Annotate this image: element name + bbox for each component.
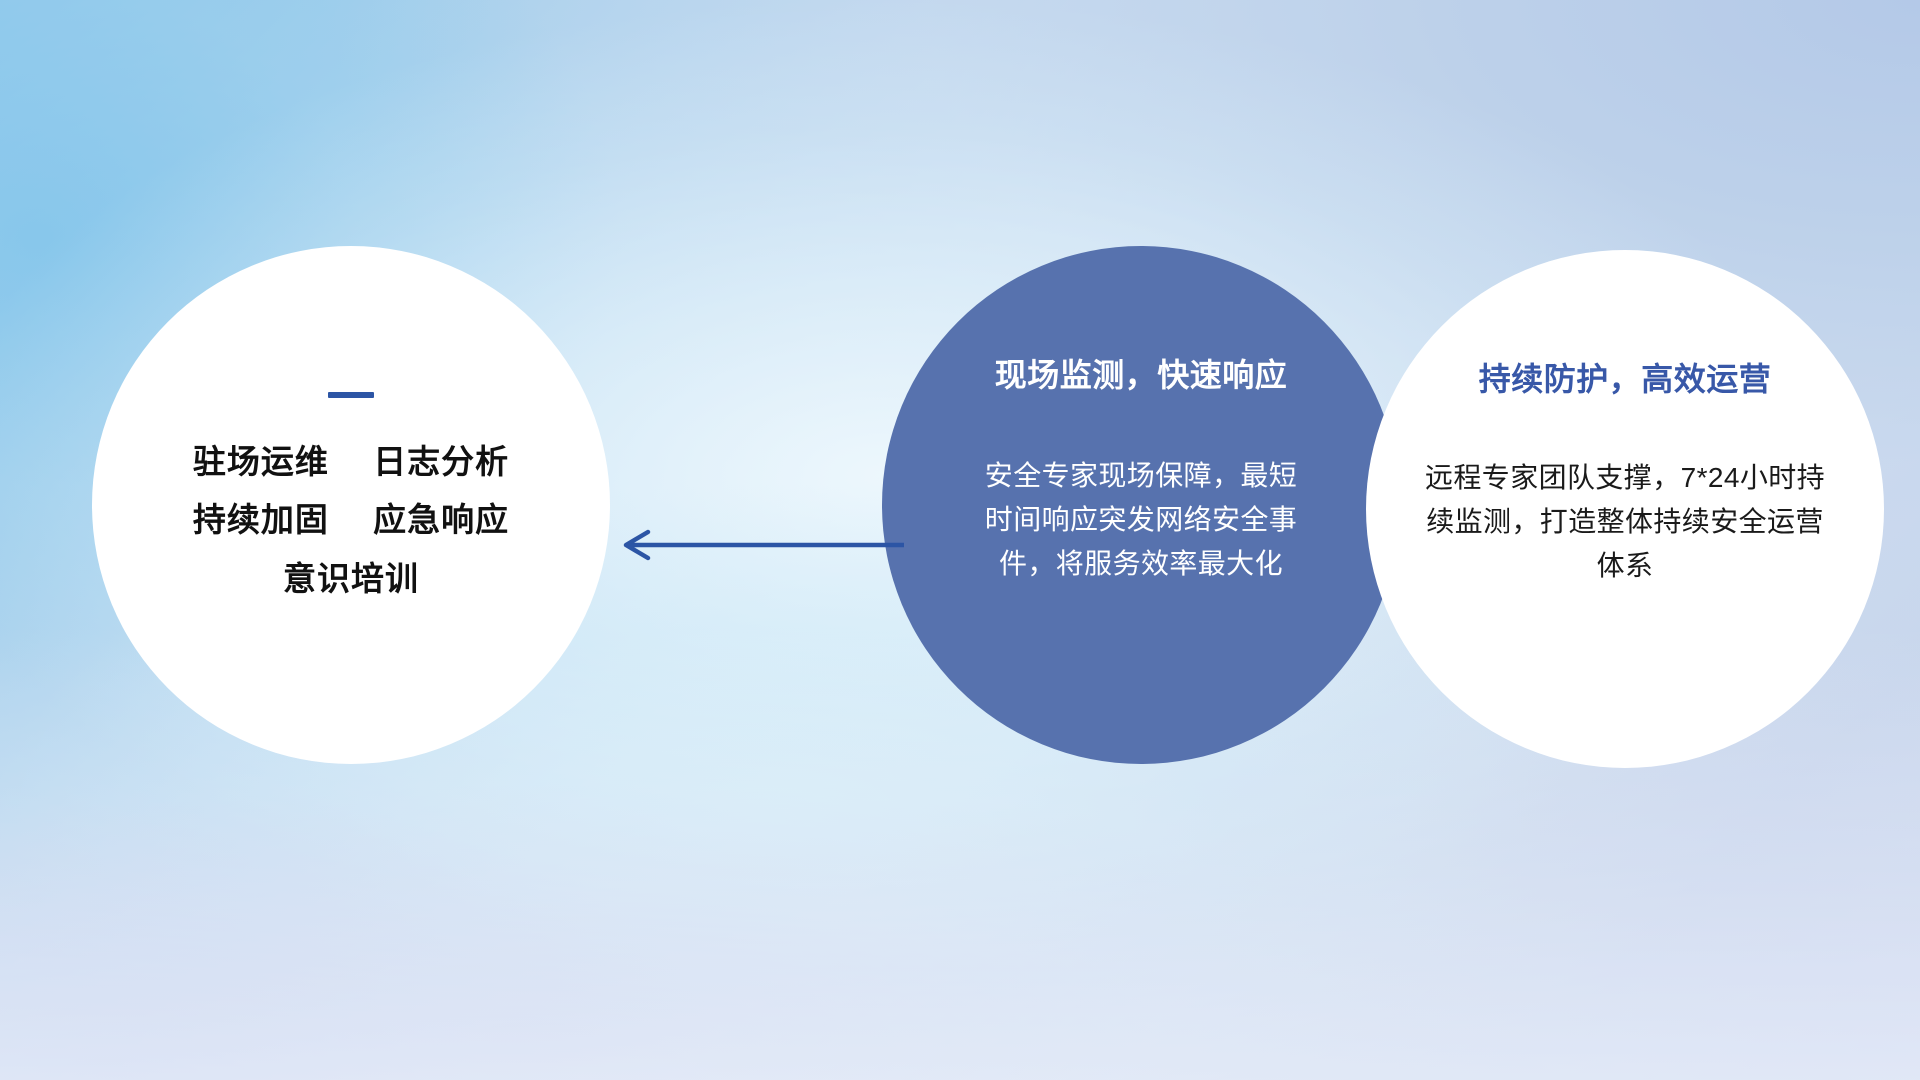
arrow-left-icon — [608, 520, 908, 570]
middle-circle-heading: 现场监测，快速响应 — [995, 350, 1288, 396]
capability-list: 驻场运维 日志分析 持续加固 应急响应 意识培训 — [193, 444, 509, 597]
capability-row-3: 意识培训 — [283, 561, 419, 597]
capability-row-1: 驻场运维 日志分析 — [193, 444, 509, 480]
left-circle-content: 驻场运维 日志分析 持续加固 应急响应 意识培训 — [92, 246, 610, 764]
dash-divider-icon — [328, 392, 374, 398]
capability-item-log-analysis: 日志分析 — [373, 444, 509, 480]
right-continuous-protection-circle[interactable]: 持续防护，高效运营 远程专家团队支撑，7*24小时持续监测，打造整体持续安全运营… — [1366, 250, 1884, 768]
left-capability-circle[interactable]: 驻场运维 日志分析 持续加固 应急响应 意识培训 — [92, 246, 610, 764]
right-circle-content: 持续防护，高效运营 远程专家团队支撑，7*24小时持续监测，打造整体持续安全运营… — [1366, 250, 1884, 768]
middle-onsite-monitoring-circle[interactable]: 现场监测，快速响应 安全专家现场保障，最短时间响应突发网络安全事件，将服务效率最… — [882, 246, 1400, 764]
right-circle-heading: 持续防护，高效运营 — [1479, 354, 1772, 400]
middle-circle-content: 现场监测，快速响应 安全专家现场保障，最短时间响应突发网络安全事件，将服务效率最… — [882, 246, 1400, 764]
capability-item-onsite-ops: 驻场运维 — [193, 444, 329, 480]
right-circle-body: 远程专家团队支撑，7*24小时持续监测，打造整体持续安全运营体系 — [1425, 456, 1825, 589]
capability-row-2: 持续加固 应急响应 — [193, 502, 509, 538]
capability-item-awareness-training: 意识培训 — [283, 561, 419, 597]
capability-item-hardening: 持续加固 — [193, 502, 329, 538]
capability-item-emergency-response: 应急响应 — [373, 502, 509, 538]
middle-circle-body: 安全专家现场保障，最短时间响应突发网络安全事件，将服务效率最大化 — [981, 454, 1301, 587]
slide-canvas: 驻场运维 日志分析 持续加固 应急响应 意识培训 现场监测，快速响应 安全专家现… — [0, 0, 1920, 1080]
